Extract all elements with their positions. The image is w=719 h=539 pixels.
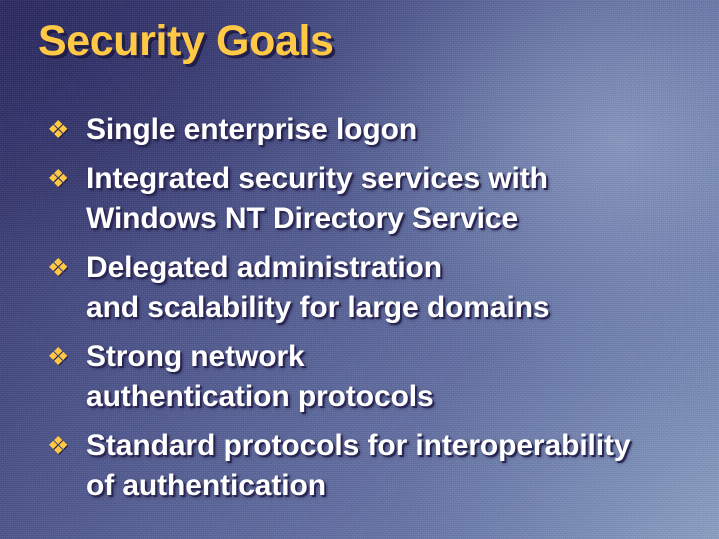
bullet-line: Strong network xyxy=(86,337,701,377)
bullet-line: Single enterprise logon xyxy=(86,110,701,150)
slide-content: Security Goals ❖ Single enterprise logon… xyxy=(0,0,719,539)
bullet-item-integrated-security-services: ❖ Integrated security services with Wind… xyxy=(42,159,701,239)
diamond-fleuron-icon: ❖ xyxy=(42,337,86,377)
bullet-line: Windows NT Directory Service xyxy=(86,199,701,239)
bullet-item-delegated-administration: ❖ Delegated administration and scalabili… xyxy=(42,248,701,328)
bullet-item-single-enterprise-logon: ❖ Single enterprise logon xyxy=(42,110,701,150)
bullet-line: and scalability for large domains xyxy=(86,288,701,328)
bullet-list: ❖ Single enterprise logon ❖ Integrated s… xyxy=(42,110,701,515)
bullet-line: of authentication xyxy=(86,466,701,506)
bullet-item-standard-protocols-interoperability: ❖ Standard protocols for interoperabilit… xyxy=(42,426,701,506)
bullet-text: Integrated security services with Window… xyxy=(86,159,701,239)
bullet-text: Delegated administration and scalability… xyxy=(86,248,701,328)
diamond-fleuron-icon: ❖ xyxy=(42,426,86,466)
bullet-line: authentication protocols xyxy=(86,377,701,417)
presentation-slide: Security Goals ❖ Single enterprise logon… xyxy=(0,0,719,539)
slide-title: Security Goals xyxy=(38,17,334,65)
diamond-fleuron-icon: ❖ xyxy=(42,110,86,150)
bullet-item-strong-network-authentication: ❖ Strong network authentication protocol… xyxy=(42,337,701,417)
bullet-line: Standard protocols for interoperability xyxy=(86,426,701,466)
bullet-text: Standard protocols for interoperability … xyxy=(86,426,701,506)
bullet-text: Strong network authentication protocols xyxy=(86,337,701,417)
diamond-fleuron-icon: ❖ xyxy=(42,159,86,199)
bullet-text: Single enterprise logon xyxy=(86,110,701,150)
bullet-line: Integrated security services with xyxy=(86,159,701,199)
diamond-fleuron-icon: ❖ xyxy=(42,248,86,288)
bullet-line: Delegated administration xyxy=(86,248,701,288)
